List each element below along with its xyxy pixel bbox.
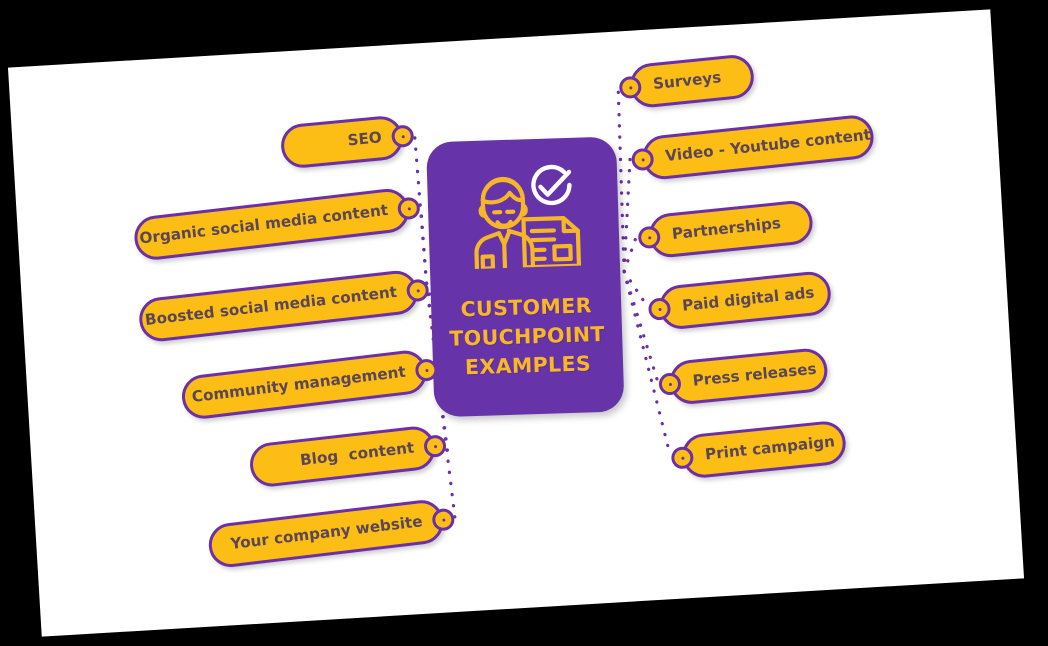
connector-line xyxy=(624,270,658,383)
screenshot-stage: CUSTOMER TOUCHPOINT EXAMPLES SEOOrganic … xyxy=(0,0,1048,646)
customer-profile-checkmark-document-icon xyxy=(460,161,587,269)
diagram-sheet: CUSTOMER TOUCHPOINT EXAMPLES SEOOrganic … xyxy=(8,9,1024,636)
center-title: CUSTOMER TOUCHPOINT EXAMPLES xyxy=(431,290,624,383)
touchpoint-label: Your company website xyxy=(230,515,423,553)
touchpoint-label: Blog content xyxy=(299,441,415,469)
touchpoint-label: Press releases xyxy=(692,362,817,389)
touchpoint-label: Surveys xyxy=(652,71,722,93)
touchpoint-label: Paid digital ads xyxy=(682,286,816,315)
touchpoint-label: Partnerships xyxy=(671,216,781,242)
connector-line xyxy=(617,155,637,272)
center-title-line-3: EXAMPLES xyxy=(433,349,624,384)
connector-line xyxy=(622,235,639,272)
touchpoint-label: Print campaign xyxy=(704,435,835,463)
touchpoint-diagram: CUSTOMER TOUCHPOINT EXAMPLES SEOOrganic … xyxy=(8,9,1024,636)
center-card[interactable]: CUSTOMER TOUCHPOINT EXAMPLES xyxy=(426,136,625,417)
touchpoint-label: Video - Youtube content xyxy=(665,128,872,165)
connector-line xyxy=(624,270,647,307)
touchpoint-label: SEO xyxy=(347,131,383,149)
